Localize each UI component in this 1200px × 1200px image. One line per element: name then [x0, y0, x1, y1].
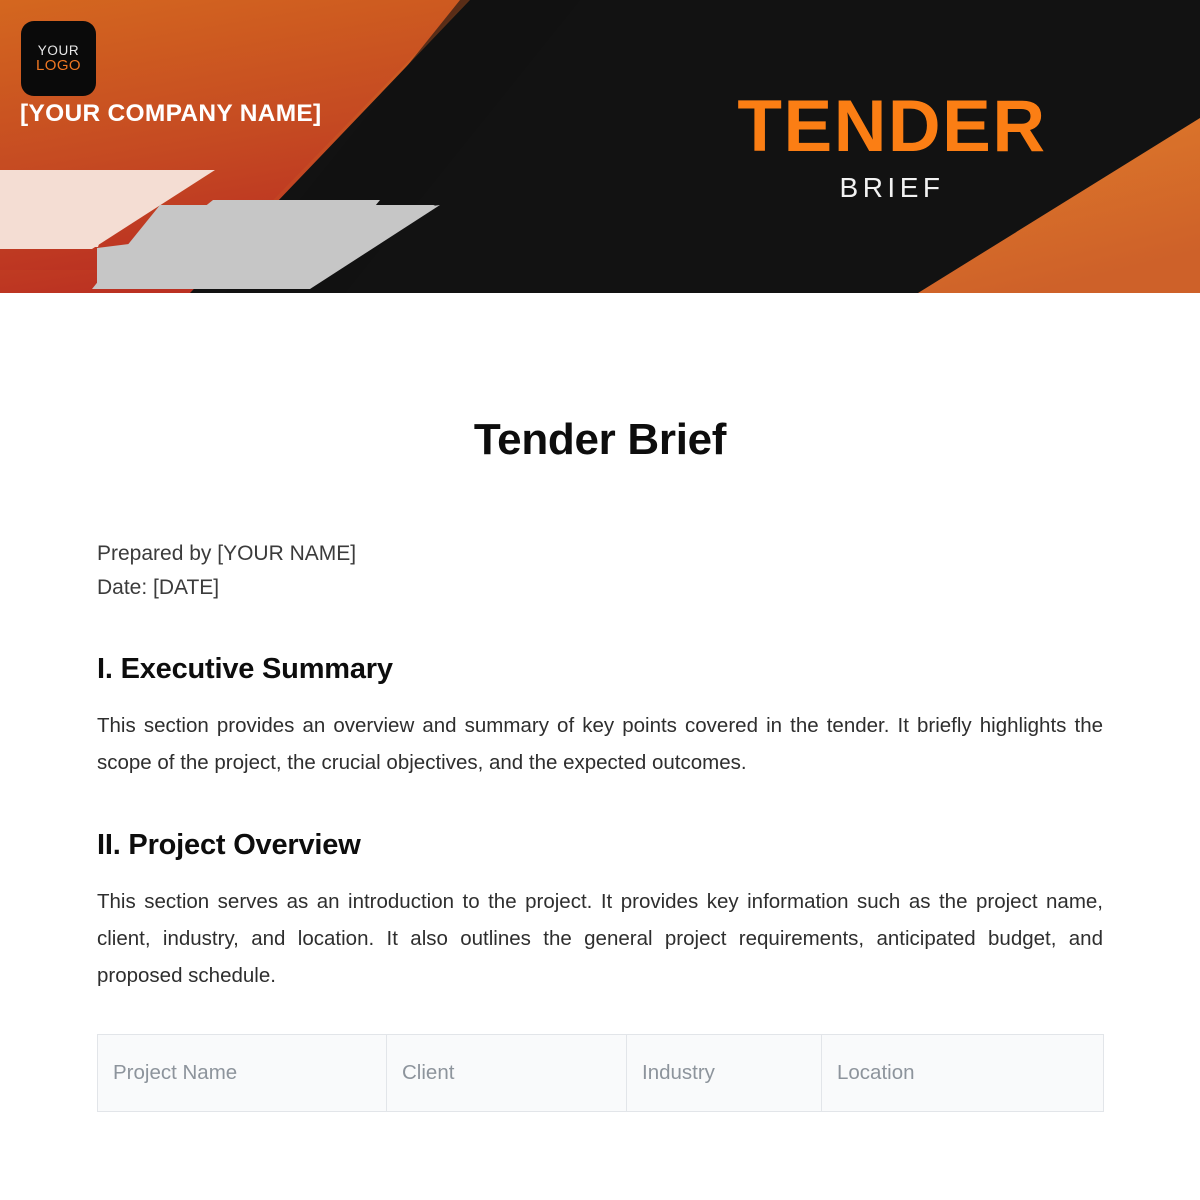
table-header-industry[interactable]: Industry	[627, 1035, 822, 1112]
section-body-project-overview: This section serves as an introduction t…	[97, 884, 1103, 994]
logo-line-logo: LOGO	[36, 58, 81, 75]
section-heading-executive-summary: I. Executive Summary	[97, 653, 1103, 686]
prepared-by-line: Prepared by [YOUR NAME]	[97, 537, 1103, 571]
project-overview-table: Project Name Client Industry Location	[97, 1034, 1104, 1112]
banner-title-sub: BRIEF	[702, 174, 1082, 202]
header-banner: YOUR LOGO [YOUR COMPANY NAME] TENDER BRI…	[0, 0, 1200, 293]
table-header-client[interactable]: Client	[387, 1035, 627, 1112]
document-meta: Prepared by [YOUR NAME] Date: [DATE]	[97, 537, 1103, 605]
section-heading-project-overview: II. Project Overview	[97, 829, 1103, 862]
logo-line-your: YOUR	[38, 43, 79, 58]
banner-title-main: TENDER	[702, 92, 1082, 162]
company-name-placeholder: [YOUR COMPANY NAME]	[20, 100, 322, 128]
document-body: Tender Brief Prepared by [YOUR NAME] Dat…	[0, 415, 1200, 1112]
logo-placeholder: YOUR LOGO	[21, 21, 96, 96]
table-header-project-name[interactable]: Project Name	[98, 1035, 387, 1112]
table-header-row: Project Name Client Industry Location	[98, 1035, 1104, 1112]
table-header-location[interactable]: Location	[822, 1035, 1104, 1112]
page-title: Tender Brief	[97, 415, 1103, 465]
section-executive-summary: I. Executive Summary This section provid…	[97, 653, 1103, 781]
date-line: Date: [DATE]	[97, 571, 1103, 605]
banner-title-block: TENDER BRIEF	[702, 92, 1082, 202]
section-body-executive-summary: This section provides an overview and su…	[97, 708, 1103, 781]
section-project-overview: II. Project Overview This section serves…	[97, 829, 1103, 994]
